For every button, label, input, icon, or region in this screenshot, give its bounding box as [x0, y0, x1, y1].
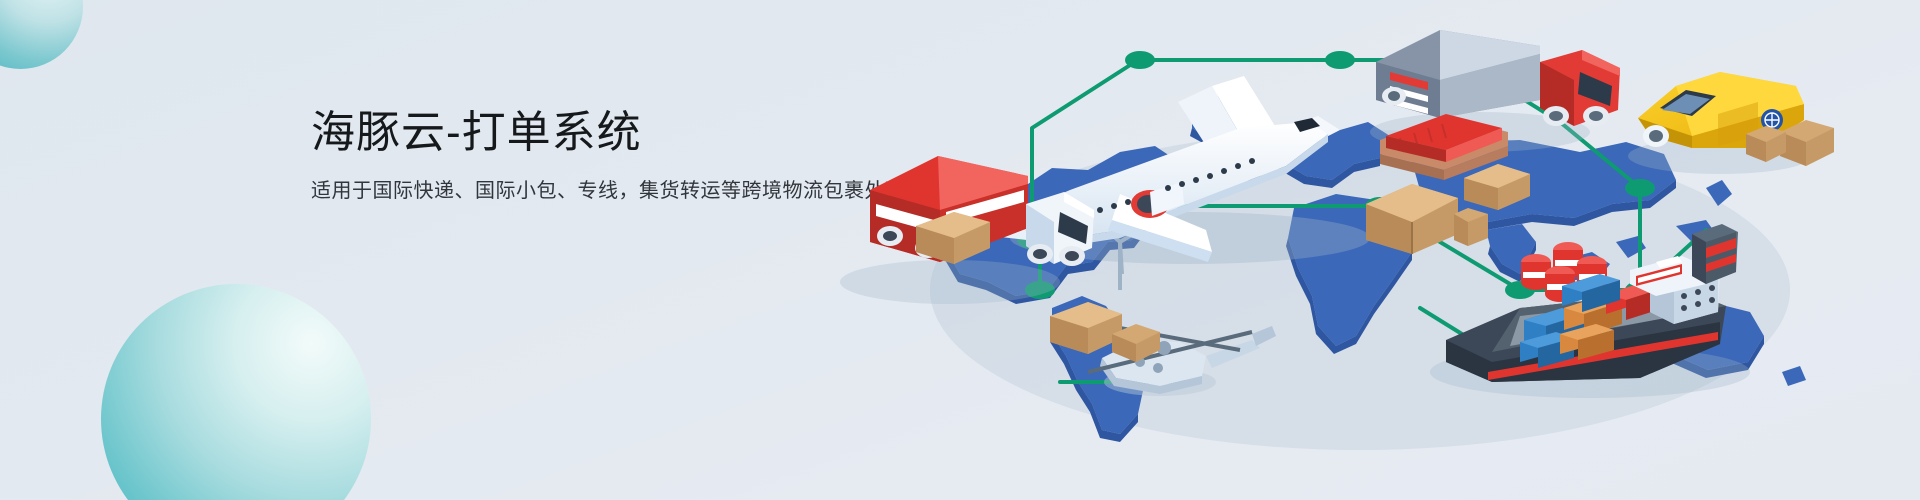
delivery-van-icon [1628, 72, 1834, 174]
decorative-circle-bottom-left [101, 284, 371, 500]
hero-banner: 海豚云-打单系统 适用于国际快递、国际小包、专线，集货转运等跨境物流包裹处理 [0, 0, 1920, 500]
world-logistics-illustration [820, 0, 1920, 500]
page-subtitle: 适用于国际快递、国际小包、专线，集货转运等跨境物流包裹处理 [311, 177, 906, 205]
decorative-circle-top-left [0, 0, 83, 69]
page-title: 海豚云-打单系统 [311, 108, 906, 159]
hero-text-block: 海豚云-打单系统 适用于国际快递、国际小包、专线，集货转运等跨境物流包裹处理 [311, 108, 906, 205]
